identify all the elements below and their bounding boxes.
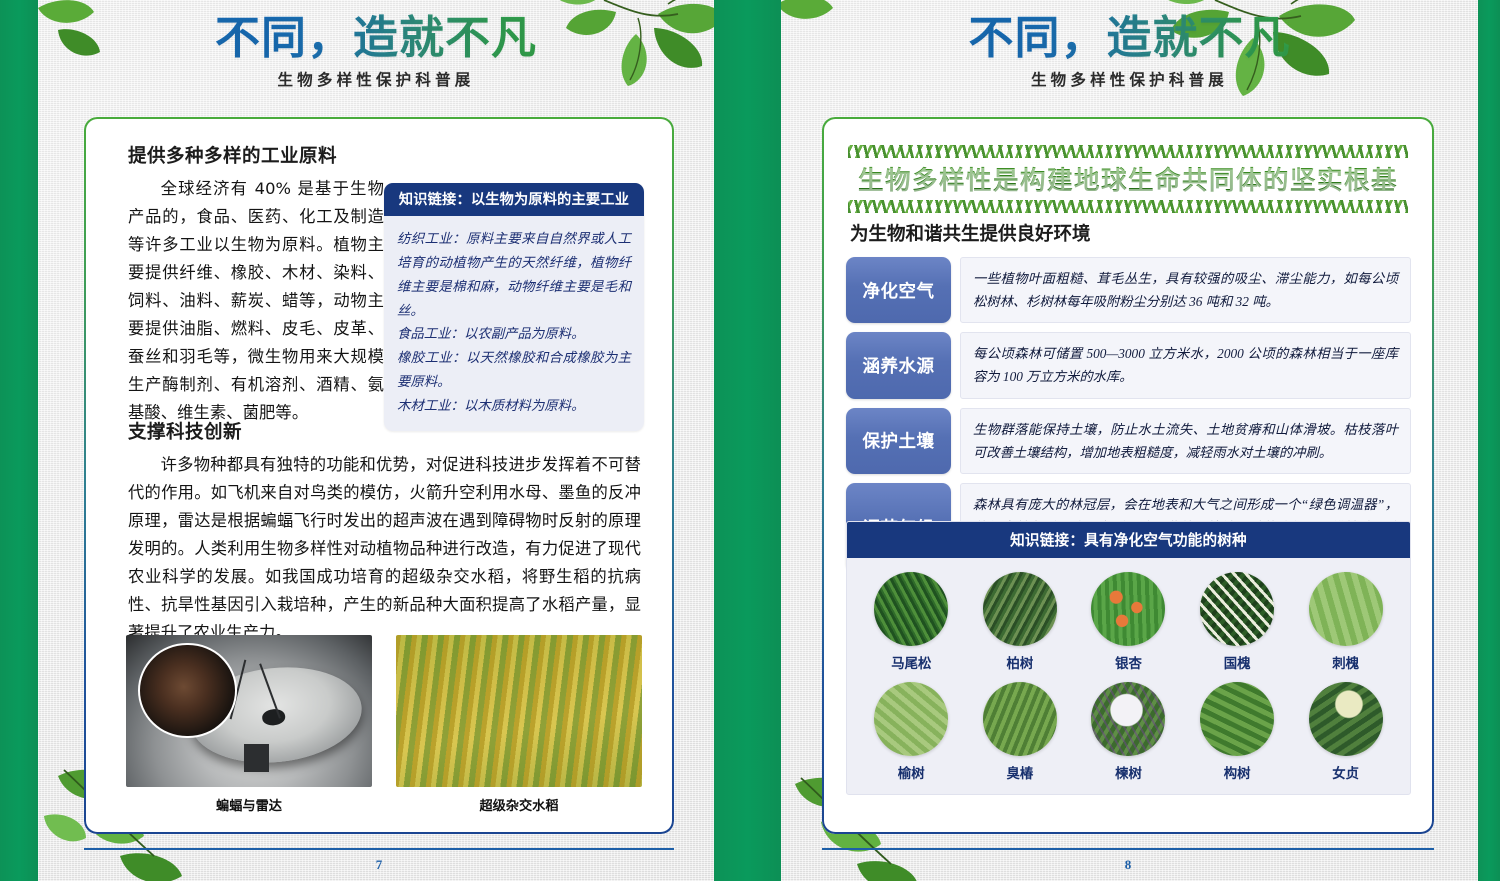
knowledge-item: 食品工业：以农副产品为原料。 <box>397 322 631 346</box>
poster-header-left: 不同，造就不凡 生物多样性保护科普展 <box>38 14 714 90</box>
feature-badge-purify-air: 净化空气 <box>846 257 951 323</box>
green-band-left <box>0 0 38 881</box>
tree-photo-guohuai <box>1200 572 1274 646</box>
photo-super-hybrid-rice <box>396 635 642 787</box>
section1-paragraph: 全球经济有 40% 是基于生物产品的，食品、医药、化工及制造等许多工业以生物为原… <box>128 175 384 427</box>
page-number-right: 8 <box>822 857 1434 873</box>
tree-item: 楝树 <box>1082 682 1174 782</box>
content-card-left: 提供多种多样的工业原料 全球经济有 40% 是基于生物产品的，食品、医药、化工及… <box>84 117 674 834</box>
section-heading-good-environment: 为生物和谐共生提供良好环境 <box>850 220 1091 246</box>
page-right: 不同，造就不凡 生物多样性保护科普展 生物多样性是构建地球生命共同体的坚实根基 … <box>781 0 1478 881</box>
tree-label: 马尾松 <box>865 652 957 672</box>
main-title: 不同，造就不凡 <box>38 14 714 62</box>
vine-border-top <box>848 145 1408 158</box>
tree-item: 国槐 <box>1191 572 1283 672</box>
feature-text-protect-soil: 生物群落能保持土壤，防止水土流失、土地贫瘠和山体滑坡。枯枝落叶可改善土壤结构，增… <box>960 408 1411 474</box>
feature-row: 涵养水源 每公顷森林可储置 500—3000 立方米水，2000 公顷的森林相当… <box>846 332 1411 398</box>
tree-item: 马尾松 <box>865 572 957 672</box>
tree-photo-baishu <box>983 572 1057 646</box>
tree-photo-masong <box>874 572 948 646</box>
feature-row: 保护土壤 生物群落能保持土壤，防止水土流失、土地贫瘠和山体滑坡。枯枝落叶可改善土… <box>846 408 1411 474</box>
knowledge-item: 橡胶工业：以天然橡胶和合成橡胶为主要原料。 <box>397 346 631 394</box>
tree-photo-chouchun <box>983 682 1057 756</box>
tree-item: 榆树 <box>865 682 957 782</box>
tree-item: 臭椿 <box>974 682 1066 782</box>
green-band-right <box>1478 0 1500 881</box>
feature-badge-conserve-water: 涵养水源 <box>846 332 951 398</box>
tree-label: 银杏 <box>1082 652 1174 672</box>
feature-text-purify-air: 一些植物叶面粗糙、茸毛丛生，具有较强的吸尘、滞尘能力，如每公顷松树林、杉树林每年… <box>960 257 1411 323</box>
knowledge-link-box-right: 知识链接：具有净化空气功能的树种 马尾松 柏树 银杏 <box>846 521 1411 795</box>
main-title: 不同，造就不凡 <box>781 14 1478 62</box>
tree-photo-yinxing <box>1091 572 1165 646</box>
photo-bat-and-radar <box>126 635 372 787</box>
tree-label: 柏树 <box>974 652 1066 672</box>
section1-paragraph-column: 全球经济有 40% 是基于生物产品的，食品、医药、化工及制造等许多工业以生物为原… <box>128 175 384 427</box>
tree-photo-nvzhen <box>1309 682 1383 756</box>
page-rule-left <box>84 848 674 850</box>
feature-badge-protect-soil: 保护土壤 <box>846 408 951 474</box>
knowledge-item: 纺织工业：原料主要来自自然界或人工培育的动植物产生的天然纤维，植物纤维主要是棉和… <box>397 227 631 322</box>
tree-item: 刺槐 <box>1300 572 1392 672</box>
knowledge-link-title-trees: 知识链接：具有净化空气功能的树种 <box>847 522 1410 558</box>
page-rule-right <box>822 848 1434 850</box>
section2-paragraph: 许多物种都具有独特的功能和优势，对促进科技进步发挥着不可替代的作用。如飞机来自对… <box>128 451 641 647</box>
tree-label: 楝树 <box>1082 762 1174 782</box>
tree-item: 女贞 <box>1300 682 1392 782</box>
vine-border-bottom <box>848 200 1408 213</box>
tree-row: 榆树 臭椿 楝树 构树 <box>857 682 1400 782</box>
tree-photo-cihuai <box>1309 572 1383 646</box>
feature-row: 净化空气 一些植物叶面粗糙、茸毛丛生，具有较强的吸尘、滞尘能力，如每公顷松树林、… <box>846 257 1411 323</box>
poster-header-right: 不同，造就不凡 生物多样性保护科普展 <box>781 14 1478 90</box>
tree-label: 刺槐 <box>1300 652 1392 672</box>
content-card-right: 生物多样性是构建地球生命共同体的坚实根基 为生物和谐共生提供良好环境 净化空气 … <box>822 117 1434 834</box>
tree-photo-goushu <box>1200 682 1274 756</box>
subtitle: 生物多样性保护科普展 <box>38 68 714 90</box>
tree-label: 国槐 <box>1191 652 1283 672</box>
tree-item: 构树 <box>1191 682 1283 782</box>
banner-title: 生物多样性是构建地球生命共同体的坚实根基 <box>848 158 1408 200</box>
green-band-divider <box>714 0 781 881</box>
knowledge-link-body: 纺织工业：原料主要来自自然界或人工培育的动植物产生的天然纤维，植物纤维主要是棉和… <box>384 216 644 431</box>
tree-label: 臭椿 <box>974 762 1066 782</box>
tree-photo-lianshu <box>1091 682 1165 756</box>
photo-caption-right: 超级杂交水稻 <box>396 795 642 814</box>
bat-inset-photo <box>138 643 236 739</box>
knowledge-link-title: 知识链接：以生物为原料的主要工业 <box>384 183 644 216</box>
poster-spread: 不同，造就不凡 生物多样性保护科普展 提供多种多样的工业原料 全球经济有 40%… <box>0 0 1500 881</box>
knowledge-item: 木材工业：以木质材料为原料。 <box>397 394 631 418</box>
feature-text-conserve-water: 每公顷森林可储置 500—3000 立方米水，2000 公顷的森林相当于一座库容… <box>960 332 1411 398</box>
tree-species-grid: 马尾松 柏树 银杏 国槐 <box>847 558 1410 794</box>
tree-row: 马尾松 柏树 银杏 国槐 <box>857 572 1400 672</box>
dish-mount <box>244 744 269 771</box>
knowledge-link-box-left: 知识链接：以生物为原料的主要工业 纺织工业：原料主要来自自然界或人工培育的动植物… <box>384 183 644 431</box>
subtitle: 生物多样性保护科普展 <box>781 68 1478 90</box>
page-number-left: 7 <box>84 857 674 873</box>
tree-label: 榆树 <box>865 762 957 782</box>
section-heading-tech-innovation: 支撑科技创新 <box>128 418 242 444</box>
tree-item: 银杏 <box>1082 572 1174 672</box>
section-heading-industrial-materials: 提供多种多样的工业原料 <box>128 142 337 168</box>
photo-caption-left: 蝙蝠与雷达 <box>126 795 372 814</box>
tree-label: 女贞 <box>1300 762 1392 782</box>
tree-label: 构树 <box>1191 762 1283 782</box>
page-left: 不同，造就不凡 生物多样性保护科普展 提供多种多样的工业原料 全球经济有 40%… <box>38 0 714 881</box>
tree-item: 柏树 <box>974 572 1066 672</box>
tree-photo-yushu <box>874 682 948 756</box>
banner-title-block: 生物多样性是构建地球生命共同体的坚实根基 <box>848 145 1408 213</box>
